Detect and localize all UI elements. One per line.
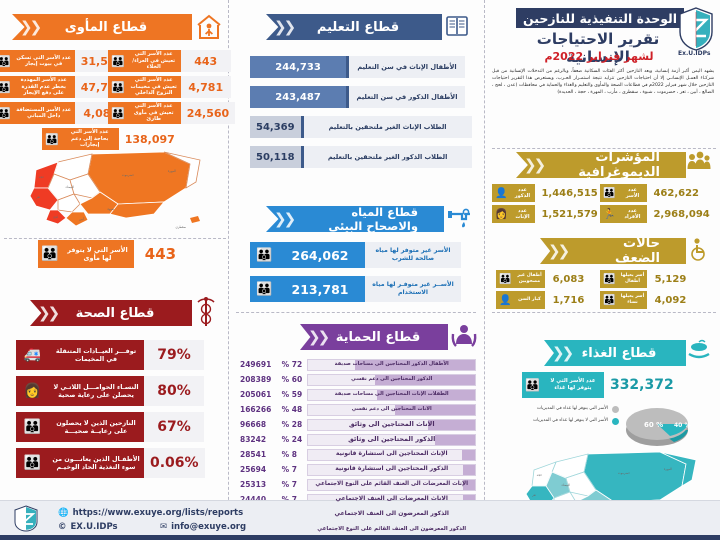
svg-text:حجة: حجة: [39, 175, 45, 179]
stat-label: الطلاب الإناث الغير ملتحقين بالتعليم: [304, 116, 472, 138]
protection-chart-row: الذكور المحتاجين الى دعم نفسي 60 % 20838…: [240, 373, 476, 386]
stat-label: الأطفال الذكور في سن التعليم: [349, 86, 465, 108]
education-banner-label: قطاع التعليم: [317, 20, 399, 35]
shelter-health-divider: [4, 238, 226, 239]
stat-label: عدد الأسر التي تعيش في مخيمات النزوح الد…: [127, 76, 181, 98]
footer-copyright: © EX.U.IDPs: [58, 522, 118, 532]
protection-chart-row: الاناث المحتاجين الى دعم نفسي 48 % 16626…: [240, 403, 476, 416]
svg-text:تعز: تعز: [531, 493, 536, 497]
bar-label: الذكور المعرضون الى العنف الاجتماعي: [308, 511, 475, 518]
education-stat-row: الأطفال الذكور في سن التعليم 243,487: [250, 86, 465, 108]
column-divider-right: [484, 0, 485, 540]
intro-paragraph: يشهد اليمن أكبر أزمة إنسانية، ويعد الناز…: [492, 68, 714, 140]
demographic-stat-row: 462,622 عدد الأسر 👪: [600, 184, 705, 202]
bar-label: الاناث المعرضات الى العنف الاجتماعي: [308, 496, 475, 503]
bar-percent: 48 %: [282, 405, 308, 414]
org-logo: Ex.U.IDPs: [676, 6, 716, 62]
footer-website-text: https://www.exuye.org/lists/reports: [73, 508, 244, 518]
stat-label: عدد الأسر المهددة بخطر عدم القدرة على دف…: [13, 76, 75, 98]
org-title-text: الوحدة التنفيذية للنازحين: [523, 11, 677, 26]
row-divider: [362, 242, 365, 268]
bar-percent: 28 %: [282, 420, 308, 429]
chevron-left-icon: ❮❮: [308, 324, 327, 350]
chevron-left-icon: ❮❮: [274, 206, 293, 232]
elderly-icon: 👤: [496, 291, 513, 309]
bar-value: 25313: [240, 480, 282, 489]
family-icon: 👪: [600, 270, 617, 288]
ambulance-icon: 🚑: [16, 340, 48, 370]
chevron-left-icon: ❮❮: [274, 14, 293, 40]
family-icon: 👪: [0, 50, 13, 72]
copyright-icon: ©: [58, 522, 67, 532]
shelter-stat-row: 24,560 عدد الأسر التي تعيش في مأوى طارئ …: [108, 102, 235, 124]
stat-label: عدد الأسر التي تعيش في مأوى طارئ: [127, 102, 181, 124]
bar-label: الأطفال الذكور المحتاجين الى مساحات صديق…: [308, 362, 475, 368]
vulnerable-banner: ❮❮ حالات الضعف: [540, 238, 686, 264]
stat-value: 443: [181, 50, 231, 72]
health-banner-label: قطاع الصحة: [76, 306, 155, 321]
health-stat-row: 0.06% الأطفـال الذين يعانـــون من سوء ال…: [16, 448, 205, 478]
protection-chart-row: الذكور المحتاجين الى استشارة قانونية 7 %…: [240, 463, 476, 476]
svg-text:حجة: حجة: [537, 473, 543, 477]
stat-value: 1,521,579: [535, 205, 603, 223]
education-banner: ❮❮ قطاع التعليم: [266, 14, 442, 40]
bar-value: 166266: [240, 405, 282, 414]
row-divider: [362, 276, 365, 302]
svg-text:البيضاء: البيضاء: [66, 185, 75, 189]
demographic-stat-row: 2,968,094 عدد الأفراد 🏃: [600, 205, 716, 223]
stat-value: 80%: [144, 376, 204, 406]
shelter-stat-row: 4,781 عدد الأسر التي تعيش في مخيمات النز…: [108, 76, 231, 98]
protection-chart-row: الذكور المحتاجين الى وثائق 24 % 83242: [240, 433, 476, 446]
vulnerable-stat-row: 6,083 أطفال غير مصحوبين 👪: [496, 270, 591, 288]
health-stat-row: 80% النسـاء الحوامـــل اللاتـي لا يحصلن …: [16, 376, 204, 406]
stat-value: 1,446,515: [535, 184, 603, 202]
bar-value: 25694: [240, 465, 282, 474]
shelter-no-shelter-row: 443 الأسر التي لا يتوفر لها مأوى 👪: [38, 240, 186, 268]
family-icon: 👪: [108, 102, 127, 124]
stat-label: عدد الأسر التي تسكن في بيوت إيجار: [13, 50, 75, 72]
chevron-left-icon: ❮❮: [524, 152, 543, 178]
stat-value: 1,716: [545, 291, 591, 309]
faucet-icon: [446, 204, 474, 232]
family-icon: 👪: [42, 128, 61, 150]
stat-label: كبار السن: [513, 291, 545, 309]
bar-label: الإناث المحتاجين الى استشارة قانونية: [308, 451, 475, 458]
bar-label: الذكور المحتاجين الى استشارة قانونية: [308, 466, 475, 473]
stat-value: 5,129: [647, 270, 693, 288]
food-banner-label: قطاع الغذاء: [582, 346, 657, 361]
shelter-stat-row: 443 عدد الأسر التي تعيش في العراء/الخلاء…: [108, 50, 231, 72]
footer-email-link[interactable]: ✉ info@exuye.org: [160, 522, 246, 532]
stat-value: 2,968,094: [647, 205, 715, 223]
book-icon: [444, 12, 470, 40]
vulnerable-food-divider: [492, 312, 716, 313]
infographic-page: الوحدة التنفيذية للنازحين تقرير الاحتياج…: [0, 0, 720, 540]
stat-value: 462,622: [647, 184, 705, 202]
shelter-stat-row-rent-support: 138,097 عدد الأسر التي بحاجة إلى دعم إيج…: [42, 128, 181, 150]
stat-label: أطفال غير مصحوبين: [513, 270, 545, 288]
people-group-icon: [686, 150, 712, 178]
footer-website-link[interactable]: 🌐 https://www.exuye.org/lists/reports: [58, 508, 243, 518]
bar-label: الذكور المحتاجين الى وثائق: [308, 436, 475, 443]
children-icon: 👪: [16, 448, 48, 478]
pie-legend-label-available: الأسر التي يتوفر لها غذاء في المديريات: [520, 406, 608, 411]
protection-banner: ❮❮ قطاع الحماية: [300, 324, 448, 350]
water-stat-row: الأســر غير متوفـر لها مياه الاستخدام 21…: [250, 276, 461, 302]
protection-banner-label: قطاع الحماية: [336, 330, 421, 345]
demographic-stat-row: 1,521,579 عدد الإناث 👩: [492, 205, 604, 223]
bar-percent: 59 %: [282, 390, 308, 399]
bar-label: الذكور المحتاجين الى دعم نفسي: [308, 377, 475, 383]
stat-label: عدد الإناث: [509, 205, 535, 223]
pregnant-woman-icon: 👩: [16, 376, 48, 406]
family-icon: 👪: [522, 372, 542, 398]
stat-value: 79%: [144, 340, 204, 370]
stat-label: أسر يعيلها نساء: [617, 291, 647, 309]
vulnerable-stat-row: 4,092 أسر يعيلها نساء 👪: [600, 291, 693, 309]
education-stat-row: الأطفال الإناث في سن التعليم 244,733: [250, 56, 465, 78]
bar-percent: 72 %: [282, 360, 308, 369]
org-title: الوحدة التنفيذية للنازحين: [516, 8, 684, 28]
stat-value: 244,733: [250, 56, 346, 78]
health-stat-row: 79% توفـــر العيــادات المتنقلة في المخي…: [16, 340, 204, 370]
stat-value: 4,781: [181, 76, 231, 98]
stat-label: عدد الأسر التي لا يتوفر لها غذاء: [542, 372, 604, 398]
water-stat-row: الأسر غير متوفر لها مياه صالحة للشرب 264…: [250, 242, 461, 268]
bar-value: 28541: [240, 450, 282, 459]
stat-label: عدد الذكور: [509, 184, 535, 202]
children-icon: 👪: [496, 270, 513, 288]
page-footer: [0, 500, 720, 540]
bar-percent: 24 %: [282, 435, 308, 444]
education-stat-row: الطلاب الذكور الغير ملتحقين بالتعليم 50,…: [250, 146, 472, 168]
bar-percent: 60 %: [282, 375, 308, 384]
bar-value: 208389: [240, 375, 282, 384]
row-divider: [301, 116, 304, 138]
report-period: لشهر فبراير 2022م: [524, 50, 674, 63]
food-pie-chart: 60 % 40 %: [620, 400, 694, 450]
svg-text:البيضاء: البيضاء: [562, 483, 571, 487]
stat-label: الأســر غير متوفـر لها مياه الاستخدام: [365, 276, 461, 302]
bar-value: 205061: [240, 390, 282, 399]
chevron-left-icon: ❮❮: [20, 14, 39, 40]
bar-value: 249691: [240, 360, 282, 369]
vulnerable-stat-row: 5,129 أسر يعيلها أطفال 👪: [600, 270, 693, 288]
shelter-banner-label: قطاع المأوى: [65, 20, 147, 35]
bar-percent: 7 %: [282, 480, 308, 489]
couple-icon: 👪: [16, 412, 48, 442]
stat-label: الأسر غير متوفر لها مياه صالحة للشرب: [365, 242, 461, 268]
stat-label: عدد الأسر التي تعيش في العراء/الخلاء: [127, 50, 181, 72]
bar-percent: 7 %: [282, 465, 308, 474]
family-icon: 👪: [250, 242, 278, 268]
food-hand-icon: [686, 338, 712, 364]
protection-chart-row: الأطفال الذكور المحتاجين الى مساحات صديق…: [240, 358, 476, 371]
stat-label: عدد الأفراد: [617, 205, 647, 223]
svg-text:سقطرى: سقطرى: [176, 225, 187, 229]
footer-email-text: info@exuye.org: [171, 522, 246, 532]
stat-value: 138,097: [119, 128, 181, 150]
stat-value: 50,118: [250, 146, 301, 168]
stat-label: عدد الأسر التي بحاجة إلى دعم إيجارات: [61, 128, 119, 150]
stat-value: 213,781: [278, 276, 362, 302]
shelter-house-icon: [194, 12, 224, 42]
male-icon: 👤: [492, 184, 509, 202]
food-stat-row: 332,372 عدد الأسر التي لا يتوفر لها غذاء…: [522, 372, 680, 398]
stat-label: الأطفـال الذين يعانـــون من سوء التغذية …: [48, 448, 144, 478]
protection-hands-icon: [450, 320, 478, 350]
disabled-icon: [686, 236, 712, 262]
pie-legend-dot-available: [612, 406, 619, 413]
stat-value: 6,083: [545, 270, 591, 288]
stat-label: الأسر التي لا يتوفر لها مأوى: [60, 240, 134, 268]
envelope-icon: ✉: [160, 522, 167, 532]
stat-label: الأطفال الإناث في سن التعليم: [349, 56, 465, 78]
logo-caption: Ex.U.IDPs: [678, 50, 710, 57]
stat-label: أسر يعيلها أطفال: [617, 270, 647, 288]
protection-chart-row: الطفلات الإناث المحتاجين الى مساحات صديق…: [240, 388, 476, 401]
stat-value: 264,062: [278, 242, 362, 268]
chevron-left-icon: ❮❮: [548, 238, 567, 264]
stat-label: الطلاب الذكور الغير ملتحقين بالتعليم: [304, 146, 472, 168]
shelter-banner: ❮❮ قطاع المأوى: [12, 14, 192, 40]
stat-value: 24,560: [181, 102, 235, 124]
water-banner-label: قطاع المياه والاصحاح البيئي: [300, 205, 418, 233]
svg-text:تعز: تعز: [35, 195, 40, 199]
svg-text:40 %: 40 %: [674, 422, 690, 429]
svg-text:60 %: 60 %: [644, 421, 663, 429]
education-stat-row: الطلاب الإناث الغير ملتحقين بالتعليم 54,…: [250, 116, 472, 138]
svg-text:المهرة: المهرة: [664, 467, 672, 471]
svg-text:لحج: لحج: [53, 215, 58, 219]
globe-icon: 🌐: [58, 508, 69, 518]
family-icon: 👪: [250, 276, 278, 302]
family-icon: 👪: [0, 102, 13, 124]
stat-label: النازحين الذين لا يحصلون على رعايــة صحي…: [48, 412, 144, 442]
caduceus-icon: [192, 296, 220, 328]
footer-copyright-text: EX.U.IDPs: [71, 522, 118, 532]
stat-label: عدد الأسر: [617, 184, 647, 202]
demographic-banner-label: المؤشرات الديموغرافية: [550, 150, 660, 180]
stat-value: 243,487: [250, 86, 346, 108]
protection-chart-row: الاناث المحتاجين الى وثائق 28 % 96668: [240, 418, 476, 431]
vulnerable-stat-row: 1,716 كبار السن 👤: [496, 291, 591, 309]
footer-accent-bar: [0, 535, 720, 540]
water-banner: ❮❮ قطاع المياه والاصحاح البيئي: [266, 206, 444, 232]
protection-chart-row: الإناث المعرضات الى العنف القائم على الن…: [240, 478, 476, 491]
pie-legend-label-unavailable: الأسر التي لا يتوفر لها غذاء في المديريا…: [514, 418, 608, 423]
demographic-stat-row: 1,446,515 عدد الذكور 👤: [492, 184, 604, 202]
demographic-banner: ❮❮ المؤشرات الديموغرافية: [516, 152, 686, 178]
stat-value: 4,092: [647, 291, 693, 309]
stat-value: 0.06%: [144, 448, 205, 478]
bar-value: 96668: [240, 420, 282, 429]
bar-label: الطفلات الإناث المحتاجين الى مساحات صديق…: [308, 392, 475, 398]
bar-label: الاناث المحتاجين الى دعم نفسي: [308, 407, 475, 413]
vulnerable-banner-label: حالات الضعف: [574, 236, 660, 266]
bar-value: 83242: [240, 435, 282, 444]
water-protection-divider: [236, 312, 476, 313]
food-banner: ❮❮ قطاع الغذاء: [544, 340, 686, 366]
bar-label: الإناث المعرضات الى العنف القائم على الن…: [308, 481, 475, 487]
report-period-text: لشهر فبراير 2022م: [544, 50, 653, 63]
family-icon: 👪: [108, 76, 127, 98]
row-divider: [346, 56, 349, 78]
bar-label: الذكور المعرضون الى العنف القائم على الن…: [308, 526, 475, 532]
stat-value: 332,372: [604, 372, 680, 398]
health-banner: ❮❮ قطاع الصحة: [30, 300, 192, 326]
svg-text:شبوة: شبوة: [107, 207, 114, 211]
chevron-left-icon: ❮❮: [38, 300, 57, 326]
svg-text:المهرة: المهرة: [168, 169, 176, 173]
stat-value: 54,369: [250, 116, 301, 138]
female-icon: 👩: [492, 205, 509, 223]
bar-percent: 8 %: [282, 450, 308, 459]
svg-text:حضرموت: حضرموت: [618, 471, 630, 475]
stat-label: توفـــر العيــادات المتنقلة في المخيمات: [48, 340, 144, 370]
yemen-map-shelter: حضرموت المهرة شبوة البيضاء حجة تعز لحج أ…: [14, 148, 214, 230]
couple-icon: 👪: [38, 240, 60, 268]
stat-value: 67%: [144, 412, 204, 442]
row-divider: [346, 86, 349, 108]
row-divider: [301, 146, 304, 168]
chevron-left-icon: ❮❮: [552, 340, 571, 366]
svg-text:حضرموت: حضرموت: [122, 173, 134, 177]
intro-demographic-divider: [492, 148, 716, 149]
family-icon: 👪: [108, 50, 127, 72]
protection-chart-row: الإناث المحتاجين الى استشارة قانونية 8 %…: [240, 448, 476, 461]
family-icon: 👪: [600, 291, 617, 309]
stat-label: النسـاء الحوامـــل اللاتـي لا يحصلن على …: [48, 376, 144, 406]
family-icon: 👪: [0, 76, 13, 98]
footer-logo: [12, 504, 40, 532]
stat-value: 443: [134, 240, 186, 268]
stat-label: عدد الأسر المستضافة داخل المباني: [13, 102, 75, 124]
pie-legend-dot-unavailable: [612, 418, 619, 425]
svg-text:أبين: أبين: [79, 217, 84, 221]
health-stat-row: 67% النازحين الذين لا يحصلون على رعايــة…: [16, 412, 204, 442]
bar-label: الاناث المحتاجين الى وثائق: [308, 421, 475, 428]
